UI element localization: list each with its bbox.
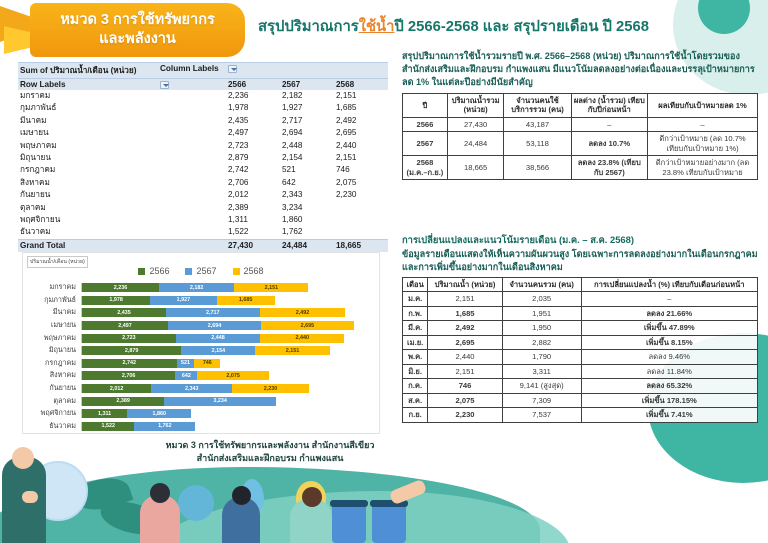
pivot-cell-month: พฤศจิกายน [20, 214, 160, 226]
pivot-year-header-2566: 2566 [228, 80, 282, 89]
pivot-row: มีนาคม2,4352,7172,492 [18, 115, 388, 127]
chart-segment-2568: 2,151 [255, 346, 329, 355]
pivot-cell-2566: 1,311 [228, 214, 282, 226]
chart-stacked-bar: 2,0122,3432,230 [81, 384, 375, 393]
pivot-row: มกราคม2,2362,1822,151 [18, 90, 388, 102]
pivot-cell-2568: 2,230 [336, 189, 390, 201]
monthly-table-row: เม.ย.2,6952,882เพิ่มขึ้น 8.15% [403, 335, 758, 349]
pivot-row-filter-button[interactable] [160, 80, 228, 89]
chart-category-label: ธันวาคม [23, 421, 81, 432]
pivot-total-2566: 27,430 [228, 240, 282, 252]
legend-swatch [185, 268, 192, 275]
pivot-cell-2567: 1,860 [282, 214, 336, 226]
pivot-header-row-2: Row Labels 2566 2567 2568 [18, 78, 388, 90]
pivot-cell-2567: 2,448 [282, 140, 336, 152]
legend-label: 2567 [196, 266, 216, 276]
chart-bar-row: สิงหาคม2,7066422,075 [23, 370, 375, 382]
person-head [150, 483, 170, 503]
pivot-cell-month: ธันวาคม [20, 226, 160, 238]
pivot-cell-month: มิถุนายน [20, 152, 160, 164]
chart-segment-2566: 1,311 [82, 409, 127, 418]
chart-segment-2567: 2,717 [166, 308, 260, 317]
yearly-table-header-row: ปีปริมาณน้ำรวม (หน่วย)จำนวนคนใช้บริการรว… [403, 94, 758, 118]
chart-category-label: กุมภาพันธ์ [23, 295, 81, 306]
monthly-table-header-row: เดือนปริมาณน้ำ (หน่วย)จำนวนคนรวม (คน)การ… [403, 278, 758, 292]
chart-bar-row: พฤศจิกายน1,3111,860 [23, 408, 375, 420]
pivot-cell-2567: 2,343 [282, 189, 336, 201]
pivot-cell-month: ตุลาคม [20, 202, 160, 214]
chart-bar-row: ธันวาคม1,5221,762 [23, 421, 375, 433]
pivot-cell-2566: 2,497 [228, 127, 282, 139]
chart-segment-2567: 1,762 [134, 422, 195, 431]
pivot-cell-2568: 2,151 [336, 90, 390, 102]
chart-segment-2568: 2,492 [260, 308, 346, 317]
monthly-cell-month: พ.ค. [403, 350, 428, 364]
monthly-cell-people: 7,537 [502, 408, 581, 422]
pivot-cell-month: สิงหาคม [20, 177, 160, 189]
chart-segment-2568: 2,230 [232, 384, 309, 393]
chart-stacked-bar: 2,4972,6942,695 [81, 321, 375, 330]
chart-category-label: เมษายน [23, 320, 81, 331]
chart-stacked-bar: 1,3111,860 [81, 409, 375, 418]
recycle-bin-lid [330, 500, 368, 507]
monthly-table-row: ส.ค.2,0757,309เพิ่มขึ้น 178.15% [403, 393, 758, 407]
pivot-cell-2566: 2,723 [228, 140, 282, 152]
pivot-cell-month: มกราคม [20, 90, 160, 102]
yearly-cell-diff: ลดลง 23.8% (เทียบกับ 2567) [571, 156, 647, 180]
person-head [232, 486, 251, 505]
chart-bar-row: เมษายน2,4972,6942,695 [23, 320, 375, 332]
chart-segment-2568: 1,685 [217, 296, 275, 305]
monthly-cell-change: ลดลง 11.84% [581, 364, 757, 378]
monthly-header-0: เดือน [403, 278, 428, 292]
chart-stacked-bar: 2,2362,1822,151 [81, 283, 375, 292]
chart-category-label: สิงหาคม [23, 370, 81, 381]
pivot-total-label: Grand Total [20, 240, 160, 252]
legend-item-2566: 2566 [138, 266, 169, 276]
person-head [12, 447, 34, 469]
page-title-highlight: ใช้น้ำ [359, 19, 395, 35]
chart-segment-2568: 2,151 [234, 283, 308, 292]
monthly-cell-water: 2,440 [428, 350, 503, 364]
pivot-cell-2566: 1,978 [228, 102, 282, 114]
hand-icon [22, 491, 38, 503]
pivot-cell-2568 [336, 214, 390, 226]
filter-icon[interactable] [228, 65, 237, 73]
monthly-cell-month: เม.ย. [403, 335, 428, 349]
chart-stacked-bar: 2,4352,7172,492 [81, 308, 375, 317]
chart-stacked-bar: 2,7066422,075 [81, 371, 375, 380]
monthly-cell-water: 2,075 [428, 393, 503, 407]
chart-segment-2567: 2,182 [159, 283, 234, 292]
monthly-cell-month: มิ.ย. [403, 364, 428, 378]
monthly-cell-water: 1,685 [428, 306, 503, 320]
pivot-cell-2567: 2,717 [282, 115, 336, 127]
monthly-cell-change: ลดลง 65.32% [581, 379, 757, 393]
chart-segment-2567: 2,154 [181, 346, 255, 355]
chart-segment-2567: 1,927 [150, 296, 216, 305]
pivot-row: กุมภาพันธ์1,9781,9271,685 [18, 102, 388, 114]
chart-bar-row: พฤษภาคม2,7232,4482,440 [23, 332, 375, 344]
chart-segment-2566: 2,742 [82, 359, 177, 368]
yearly-cell-water: 24,484 [447, 132, 504, 156]
pivot-row: สิงหาคม2,7066422,075 [18, 177, 388, 189]
chart-category-label: มิถุนายน [23, 345, 81, 356]
pivot-row: กันยายน2,0122,3432,230 [18, 189, 388, 201]
monthly-table-body: ม.ค.2,1512,035–ก.พ.1,6851,951ลดลง 21.66%… [403, 292, 758, 422]
yearly-header-4: ผลเทียบกับเป้าหมายลด 1% [648, 94, 758, 118]
legend-swatch [138, 268, 145, 275]
chart-segment-2568: 2,075 [197, 371, 269, 380]
pivot-row: ธันวาคม1,5221,762 [18, 226, 388, 238]
yearly-cell-target: ดีกว่าเป้าหมายอย่างมาก (ลด 23.8% เทียบกั… [648, 156, 758, 180]
pivot-cell-2567: 2,154 [282, 152, 336, 164]
yearly-header-1: ปริมาณน้ำรวม (หน่วย) [447, 94, 504, 118]
pivot-cell-2566: 2,012 [228, 189, 282, 201]
chart-segment-2566: 2,879 [82, 346, 181, 355]
pivot-header-row-1: Sum of ปริมาณน้ำ/เดือน (หน่วย) Column La… [18, 62, 388, 78]
yearly-cell-target: ดีกว่าเป้าหมาย (ลด 10.7% เทียบกับเป้าหมา… [648, 132, 758, 156]
globe-icon [178, 485, 214, 521]
monthly-section-paragraph: ข้อมูลรายเดือนแสดงให้เห็นความผันผวนสูง โ… [402, 248, 760, 274]
monthly-cell-change: เพิ่มขึ้น 47.89% [581, 321, 757, 335]
pivot-cell-2568: 2,151 [336, 152, 390, 164]
pivot-cell-2566: 1,522 [228, 226, 282, 238]
pivot-cell-2568 [336, 226, 390, 238]
pivot-row: เมษายน2,4972,6942,695 [18, 127, 388, 139]
monthly-cell-people: 1,790 [502, 350, 581, 364]
pivot-cell-2567: 3,234 [282, 202, 336, 214]
chart-segment-2567: 3,234 [164, 397, 275, 406]
monthly-table-row: พ.ค.2,4401,790ลดลง 9.46% [403, 350, 758, 364]
pivot-cell-2568 [336, 202, 390, 214]
monthly-table-row: มี.ค.2,4921,950เพิ่มขึ้น 47.89% [403, 321, 758, 335]
monthly-cell-people: 2,882 [502, 335, 581, 349]
monthly-cell-change: เพิ่มขึ้น 178.15% [581, 393, 757, 407]
yearly-cell-people: 53,118 [504, 132, 571, 156]
pivot-row-labels: Row Labels [20, 80, 160, 89]
yearly-table-body: 256627,43043,187––256724,48453,118ลดลง 1… [403, 117, 758, 179]
pivot-cell-month: เมษายน [20, 127, 160, 139]
chart-bar-row: มกราคม2,2362,1822,151 [23, 282, 375, 294]
yearly-cell-water: 18,665 [447, 156, 504, 180]
monthly-cell-water: 746 [428, 379, 503, 393]
monthly-cell-change: ลดลง 9.46% [581, 350, 757, 364]
pivot-cell-month: พฤษภาคม [20, 140, 160, 152]
page-title-post: ปี 2566-2568 และ สรุปรายเดือน ปี 2568 [394, 19, 649, 35]
yearly-cell-diff: ลดลง 10.7% [571, 132, 647, 156]
footer-line-1: หมวด 3 การใช้ทรัพยากรและพลังงาน สำนักงาน… [120, 439, 420, 452]
pivot-cell-2566: 2,706 [228, 177, 282, 189]
chart-stacked-bar: 2,7232,4482,440 [81, 334, 375, 343]
pivot-total-2567: 24,484 [282, 240, 336, 252]
pivot-cell-2568: 1,685 [336, 102, 390, 114]
monthly-cell-month: มี.ค. [403, 321, 428, 335]
monthly-cell-month: ก.ย. [403, 408, 428, 422]
monthly-cell-change: เพิ่มขึ้น 7.41% [581, 408, 757, 422]
monthly-cell-people: 7,309 [502, 393, 581, 407]
chart-segment-2566: 2,706 [82, 371, 175, 380]
recycle-bin [372, 503, 406, 543]
legend-item-2567: 2567 [185, 266, 216, 276]
yearly-cell-people: 43,187 [504, 117, 571, 131]
banner-line-2: และพลังงาน [99, 30, 176, 49]
chart-segment-2567: 2,343 [151, 384, 232, 393]
pivot-cell-month: กุมภาพันธ์ [20, 102, 160, 114]
chart-category-label: กรกฎาคม [23, 358, 81, 369]
monthly-section-heading: การเปลี่ยนแปลงและแนวโน้มรายเดือน (ม.ค. –… [402, 233, 760, 248]
yearly-summary-paragraph: สรุปปริมาณการใช้น้ำรวมรายปี พ.ศ. 2566–25… [402, 50, 760, 89]
pivot-row: กรกฎาคม2,742521746 [18, 164, 388, 176]
pivot-grand-total-row: Grand Total 27,430 24,484 18,665 [18, 239, 388, 252]
pivot-row: พฤษภาคม2,7232,4482,440 [18, 140, 388, 152]
pivot-column-filter-button[interactable] [228, 64, 282, 77]
pivot-cell-2566: 2,879 [228, 152, 282, 164]
pivot-cell-2567: 2,182 [282, 90, 336, 102]
banner-line-1: หมวด 3 การใช้ทรัพยากร [60, 11, 215, 30]
chart-segment-2566: 2,497 [82, 321, 168, 330]
pivot-cell-2567: 642 [282, 177, 336, 189]
yearly-cell-year: 2568 (ม.ค.–ก.ย.) [403, 156, 448, 180]
page-title-pre: สรุปปริมาณการ [258, 19, 359, 35]
chart-stacked-bar: 2,3893,234 [81, 397, 375, 406]
yearly-cell-year: 2567 [403, 132, 448, 156]
yearly-cell-people: 38,566 [504, 156, 571, 180]
chart-segment-2566: 2,389 [82, 397, 164, 406]
monthly-cell-water: 2,151 [428, 292, 503, 306]
chart-category-label: พฤษภาคม [23, 333, 81, 344]
pivot-row: ตุลาคม2,3893,234 [18, 202, 388, 214]
pivot-row: มิถุนายน2,8792,1542,151 [18, 152, 388, 164]
chart-segment-2568: 2,695 [261, 321, 354, 330]
chart-category-label: มีนาคม [23, 307, 81, 318]
legend-item-2568: 2568 [233, 266, 264, 276]
legend-label: 2568 [244, 266, 264, 276]
chart-stacked-bar: 2,8792,1542,151 [81, 346, 375, 355]
yearly-cell-diff: – [571, 117, 647, 131]
monthly-cell-change: – [581, 292, 757, 306]
legend-swatch [233, 268, 240, 275]
footer-caption: หมวด 3 การใช้ทรัพยากรและพลังงาน สำนักงาน… [120, 439, 420, 465]
yearly-table-row: 256724,48453,118ลดลง 10.7%ดีกว่าเป้าหมาย… [403, 132, 758, 156]
chart-category-label: กันยายน [23, 383, 81, 394]
yearly-header-2: จำนวนคนใช้บริการรวม (คน) [504, 94, 571, 118]
monthly-cell-month: ก.พ. [403, 306, 428, 320]
pivot-cell-2567: 1,927 [282, 102, 336, 114]
monthly-cell-water: 2,492 [428, 321, 503, 335]
infographic-page: หมวด 3 การใช้ทรัพยากร และพลังงาน สรุปปริ… [0, 0, 768, 543]
monthly-cell-water: 2,695 [428, 335, 503, 349]
monthly-water-stacked-bar-chart: ปริมาณน้ำ/เดือน (หน่วย) 256625672568 มกร… [22, 252, 380, 434]
pivot-cell-2566: 2,389 [228, 202, 282, 214]
chart-category-label: พฤศจิกายน [23, 408, 81, 419]
chart-segment-2566: 2,723 [82, 334, 176, 343]
yearly-table-row: 256627,43043,187–– [403, 117, 758, 131]
chart-bar-row: กันยายน2,0122,3432,230 [23, 383, 375, 395]
pivot-cell-2567: 1,762 [282, 226, 336, 238]
monthly-cell-people: 3,311 [502, 364, 581, 378]
monthly-cell-month: ส.ค. [403, 393, 428, 407]
pivot-cell-2566: 2,435 [228, 115, 282, 127]
chart-legend: 256625672568 [23, 266, 379, 276]
monthly-summary-table: เดือนปริมาณน้ำ (หน่วย)จำนวนคนรวม (คน)การ… [402, 277, 758, 423]
pivot-cell-month: กรกฎาคม [20, 164, 160, 176]
chart-segment-2566: 2,435 [82, 308, 166, 317]
monthly-table-row: ก.พ.1,6851,951ลดลง 21.66% [403, 306, 758, 320]
monthly-cell-month: ก.ค. [403, 379, 428, 393]
yearly-table-row: 2568 (ม.ค.–ก.ย.)18,66538,566ลดลง 23.8% (… [403, 156, 758, 180]
footer-line-2: สำนักส่งเสริมและฝึกอบรม กำแพงแสน [120, 452, 420, 465]
chart-segment-2568: 746 [194, 359, 220, 368]
chart-segment-2567: 2,448 [176, 334, 260, 343]
chart-bar-row: กรกฎาคม2,742521746 [23, 358, 375, 370]
pivot-cell-2566: 2,742 [228, 164, 282, 176]
yearly-cell-target: – [648, 117, 758, 131]
monthly-header-1: ปริมาณน้ำ (หน่วย) [428, 278, 503, 292]
yearly-summary-table: ปีปริมาณน้ำรวม (หน่วย)จำนวนคนใช้บริการรว… [402, 93, 758, 180]
monthly-header-3: การเปลี่ยนแปลงน้ำ (%) เทียบกับเดือนก่อนห… [581, 278, 757, 292]
monthly-cell-people: 2,035 [502, 292, 581, 306]
yearly-cell-year: 2566 [403, 117, 448, 131]
monthly-cell-month: ม.ค. [403, 292, 428, 306]
monthly-cell-change: เพิ่มขึ้น 8.15% [581, 335, 757, 349]
pivot-year-header-2568: 2568 [336, 80, 390, 89]
monthly-table-row: ก.ย.2,2307,537เพิ่มขึ้น 7.41% [403, 408, 758, 422]
chart-segment-2568: 2,440 [260, 334, 344, 343]
chart-plot-area: มกราคม2,2362,1822,151กุมภาพันธ์1,9781,92… [23, 282, 375, 427]
chart-category-label: ตุลาคม [23, 396, 81, 407]
chart-bar-row: กุมภาพันธ์1,9781,9271,685 [23, 295, 375, 307]
category-banner: หมวด 3 การใช้ทรัพยากร และพลังงาน [30, 3, 245, 57]
filter-icon[interactable] [160, 81, 169, 89]
chart-stacked-bar: 1,9781,9271,685 [81, 296, 375, 305]
page-title: สรุปปริมาณการใช้น้ำปี 2566-2568 และ สรุป… [258, 14, 649, 38]
pivot-body: มกราคม2,2362,1822,151กุมภาพันธ์1,9781,92… [18, 90, 388, 239]
person-head [302, 487, 322, 507]
chart-segment-2566: 1,978 [82, 296, 150, 305]
chart-segment-2567: 2,694 [168, 321, 261, 330]
chart-stacked-bar: 2,742521746 [81, 359, 375, 368]
monthly-table-row: ก.ค.7469,141 (สูงสุด)ลดลง 65.32% [403, 379, 758, 393]
pivot-cell-2567: 521 [282, 164, 336, 176]
monthly-cell-water: 2,151 [428, 364, 503, 378]
pivot-year-header-2567: 2567 [282, 80, 336, 89]
chart-segment-2566: 2,012 [82, 384, 151, 393]
chart-bar-row: มีนาคม2,4352,7172,492 [23, 307, 375, 319]
chart-segment-2567: 1,860 [127, 409, 191, 418]
monthly-cell-people: 1,950 [502, 321, 581, 335]
pivot-table: Sum of ปริมาณน้ำ/เดือน (หน่วย) Column La… [18, 62, 388, 252]
eco-illustration: หมวด 3 การใช้ทรัพยากรและพลังงาน สำนักงาน… [0, 435, 768, 543]
chart-segment-2567: 521 [177, 359, 195, 368]
chart-segment-2566: 1,522 [82, 422, 134, 431]
legend-label: 2566 [149, 266, 169, 276]
pivot-column-labels: Column Labels [160, 64, 228, 77]
monthly-table-row: มิ.ย.2,1513,311ลดลง 11.84% [403, 364, 758, 378]
chart-category-label: มกราคม [23, 282, 81, 293]
pivot-cell-2566: 2,236 [228, 90, 282, 102]
pivot-cell-month: มีนาคม [20, 115, 160, 127]
pivot-cell-2567: 2,694 [282, 127, 336, 139]
yearly-cell-water: 27,430 [447, 117, 504, 131]
chart-bar-row: มิถุนายน2,8792,1542,151 [23, 345, 375, 357]
monthly-cell-people: 1,951 [502, 306, 581, 320]
chart-bar-row: ตุลาคม2,3893,234 [23, 395, 375, 407]
yearly-header-0: ปี [403, 94, 448, 118]
chart-segment-2567: 642 [175, 371, 197, 380]
chart-stacked-bar: 1,5221,762 [81, 422, 375, 431]
monthly-cell-change: ลดลง 21.66% [581, 306, 757, 320]
pivot-cell-2568: 2,695 [336, 127, 390, 139]
chart-segment-2566: 2,236 [82, 283, 159, 292]
pivot-corner-title: Sum of ปริมาณน้ำ/เดือน (หน่วย) [20, 64, 160, 77]
monthly-header-2: จำนวนคนรวม (คน) [502, 278, 581, 292]
monthly-cell-people: 9,141 (สูงสุด) [502, 379, 581, 393]
pivot-row: พฤศจิกายน1,3111,860 [18, 214, 388, 226]
pivot-cell-month: กันยายน [20, 189, 160, 201]
pivot-total-2568: 18,665 [336, 240, 390, 252]
pivot-cell-2568: 746 [336, 164, 390, 176]
monthly-section-header: การเปลี่ยนแปลงและแนวโน้มรายเดือน (ม.ค. –… [402, 233, 760, 274]
monthly-table-row: ม.ค.2,1512,035– [403, 292, 758, 306]
recycle-bin [332, 503, 366, 543]
yearly-header-3: ผลต่าง (น้ำรวม) เทียบกับปีก่อนหน้า [571, 94, 647, 118]
pivot-cell-2568: 2,440 [336, 140, 390, 152]
pivot-cell-2568: 2,492 [336, 115, 390, 127]
pivot-cell-2568: 2,075 [336, 177, 390, 189]
monthly-cell-water: 2,230 [428, 408, 503, 422]
